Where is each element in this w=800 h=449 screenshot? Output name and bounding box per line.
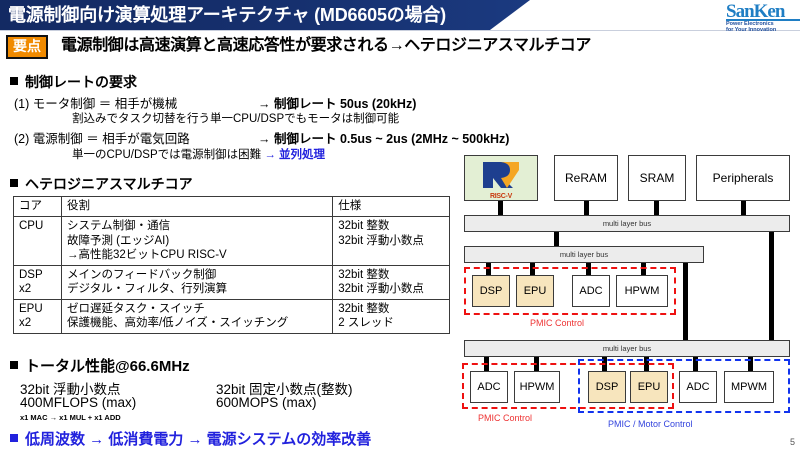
risc-v-label: RISC-V bbox=[465, 193, 537, 200]
heading-hetero-label: ヘテロジニアスマルチコア bbox=[25, 176, 193, 192]
rate-row-1-right-label: → 制御レート 50us (20kHz) bbox=[258, 97, 416, 111]
page-title: 電源制御向け演算処理アーキテクチャ (MD6605の場合) bbox=[8, 2, 488, 28]
heading-total-performance: トータル性能@66.6MHz bbox=[10, 355, 190, 376]
table-row: CPU システム制御・通信 故障予測 (エッジAI) →高性能32ビットCPU … bbox=[14, 217, 450, 266]
bullet-square-icon bbox=[10, 77, 18, 85]
wire-reram-bus1 bbox=[584, 201, 589, 215]
cell-core-dsp: DSPx2 bbox=[14, 265, 62, 299]
role-line: システム制御・通信 bbox=[67, 219, 327, 234]
sanken-logo: SanKen Power Electronics for Your Innova… bbox=[722, 0, 800, 32]
heading-control-rate: 制御レートの要求 bbox=[10, 72, 137, 92]
logo-tagline-line2: for Your Innovation bbox=[726, 27, 776, 32]
wire-peripherals-bus1 bbox=[741, 201, 746, 215]
bullet-square-icon bbox=[10, 434, 18, 442]
slide-root: 電源制御向け演算処理アーキテクチャ (MD6605の場合) SanKen Pow… bbox=[0, 0, 800, 449]
rate-row-1-sub: 割込みでタスク切替を行う単一CPU/DSPでもモータは制御可能 bbox=[72, 110, 399, 126]
role-line: メインのフィードバック制御 bbox=[67, 268, 327, 283]
heading-total-performance-label: トータル性能@66.6MHz bbox=[25, 358, 190, 375]
diagram-node-sram: SRAM bbox=[628, 155, 686, 201]
heading-control-rate-label: 制御レートの要求 bbox=[25, 74, 137, 90]
rate-row-2-sub-arrow: → 並列処理 bbox=[264, 149, 325, 161]
diagram-node-epu-bottom: EPU bbox=[630, 371, 668, 403]
core-table: コア 役割 仕様 CPU システム制御・通信 故障予測 (エッジAI) →高性能… bbox=[13, 196, 450, 334]
conclusion-line: 低周波数 → 低消費電力 → 電源システムの効率改善 bbox=[10, 428, 371, 449]
perf-col1-note: x1 MAC → x1 MUL + x1 ADD bbox=[20, 413, 121, 422]
group-label-motor-bottom: PMIC / Motor Control bbox=[608, 419, 693, 429]
bullet-square-icon bbox=[10, 179, 18, 187]
table-row: EPUx2 ゼロ遅延タスク・スイッチ 保護機能、高効率/低ノイズ・スイッチング … bbox=[14, 299, 450, 333]
spec-line: 32bit 整数 bbox=[338, 219, 444, 234]
role-line: デジタル・フィルタ、行列演算 bbox=[67, 282, 327, 297]
table-col-spec: 仕様 bbox=[333, 197, 450, 217]
cell-role-epu: ゼロ遅延タスク・スイッチ 保護機能、高効率/低ノイズ・スイッチング bbox=[61, 299, 332, 333]
cell-spec-cpu: 32bit 整数 32bit 浮動小数点 bbox=[333, 217, 450, 266]
cell-core-epu: EPUx2 bbox=[14, 299, 62, 333]
role-line: →高性能32ビットCPU RISC-V bbox=[67, 248, 327, 263]
diagram-node-adc-mid: ADC bbox=[572, 275, 610, 307]
spec-line: 32bit 整数 bbox=[338, 302, 444, 317]
rate-row-2-sub: 単一のCPU/DSPでは電源制御は困難 → 並列処理 bbox=[72, 146, 325, 162]
rate-row-2-right-label: → 制御レート 0.5us ~ 2us (2MHz ~ 500kHz) bbox=[258, 132, 509, 146]
keypoint-row: 要点 電源制御は高速演算と高速応答性が要求される→ヘテロジニアスマルチコア bbox=[6, 34, 796, 60]
group-label-pmic-mid: PMIC Control bbox=[530, 318, 584, 328]
role-line: 故障予測 (エッジAI) bbox=[67, 234, 327, 249]
group-label-pmic-bottom: PMIC Control bbox=[478, 413, 532, 423]
cell-role-dsp: メインのフィードバック制御 デジタル・フィルタ、行列演算 bbox=[61, 265, 332, 299]
conclusion-label: 低周波数 → 低消費電力 → 電源システムの効率改善 bbox=[25, 431, 371, 448]
rate-row-2-sub-prefix: 単一のCPU/DSPでは電源制御は困難 bbox=[72, 149, 264, 161]
architecture-diagram: RISC-V ReRAM SRAM Peripherals multi laye… bbox=[458, 155, 796, 441]
cell-core-cpu: CPU bbox=[14, 217, 62, 266]
role-line: ゼロ遅延タスク・スイッチ bbox=[67, 302, 327, 317]
diagram-node-reram: ReRAM bbox=[554, 155, 618, 201]
cell-spec-dsp: 32bit 整数 32bit 浮動小数点 bbox=[333, 265, 450, 299]
diagram-node-hpwm-bottom: HPWM bbox=[514, 371, 560, 403]
page-number: 5 bbox=[790, 437, 795, 447]
diagram-node-hpwm-mid: HPWM bbox=[616, 275, 668, 307]
spec-line: 32bit 整数 bbox=[338, 268, 444, 283]
diagram-node-epu-mid: EPU bbox=[516, 275, 554, 307]
spec-line: 2 スレッド bbox=[338, 316, 444, 331]
spec-line: 32bit 浮動小数点 bbox=[338, 282, 444, 297]
table-header-row: コア 役割 仕様 bbox=[14, 197, 450, 217]
header-divider bbox=[0, 30, 800, 31]
diagram-node-risc-v: RISC-V bbox=[464, 155, 538, 201]
keypoint-badge: 要点 bbox=[6, 35, 48, 59]
diagram-node-adc-bottom-1: ADC bbox=[470, 371, 508, 403]
cell-spec-epu: 32bit 整数 2 スレッド bbox=[333, 299, 450, 333]
wire-sram-bus1 bbox=[654, 201, 659, 215]
perf-col2-line2: 600MOPS (max) bbox=[216, 395, 317, 410]
wire-bus2-trunk bbox=[683, 262, 688, 340]
diagram-bus-1: multi layer bus bbox=[464, 215, 790, 232]
keypoint-text: 電源制御は高速演算と高速応答性が要求される→ヘテロジニアスマルチコア bbox=[61, 34, 591, 57]
diagram-bus-3: multi layer bus bbox=[464, 340, 790, 357]
bullet-square-icon bbox=[10, 361, 18, 369]
perf-col1-line2: 400MFLOPS (max) bbox=[20, 395, 136, 410]
diagram-node-peripherals: Peripherals bbox=[696, 155, 790, 201]
role-line: 保護機能、高効率/低ノイズ・スイッチング bbox=[67, 316, 327, 331]
diagram-node-mpwm-bottom: MPWM bbox=[724, 371, 774, 403]
table-col-role: 役割 bbox=[61, 197, 332, 217]
risc-v-logo-icon bbox=[479, 160, 523, 196]
spec-line: 32bit 浮動小数点 bbox=[338, 234, 444, 249]
diagram-node-dsp-bottom: DSP bbox=[588, 371, 626, 403]
diagram-bus-2: multi layer bus bbox=[464, 246, 704, 263]
diagram-node-dsp-mid: DSP bbox=[472, 275, 510, 307]
wire-riscv-bus1 bbox=[498, 201, 503, 215]
diagram-node-adc-bottom-2: ADC bbox=[679, 371, 717, 403]
table-col-core: コア bbox=[14, 197, 62, 217]
cell-role-cpu: システム制御・通信 故障予測 (エッジAI) →高性能32ビットCPU RISC… bbox=[61, 217, 332, 266]
wire-bus1-bus2 bbox=[554, 232, 559, 246]
wire-bus1-trunk-right bbox=[769, 232, 774, 340]
rate-row-2-left: (2) 電源制御 ＝ 相手が電気回路 bbox=[14, 128, 190, 147]
table-row: DSPx2 メインのフィードバック制御 デジタル・フィルタ、行列演算 32bit… bbox=[14, 265, 450, 299]
heading-hetero: ヘテロジニアスマルチコア bbox=[10, 174, 193, 194]
rate-row-2-right: → 制御レート 0.5us ~ 2us (2MHz ~ 500kHz) bbox=[258, 128, 509, 147]
logo-tagline: Power Electronics for Your Innovation bbox=[726, 21, 800, 32]
